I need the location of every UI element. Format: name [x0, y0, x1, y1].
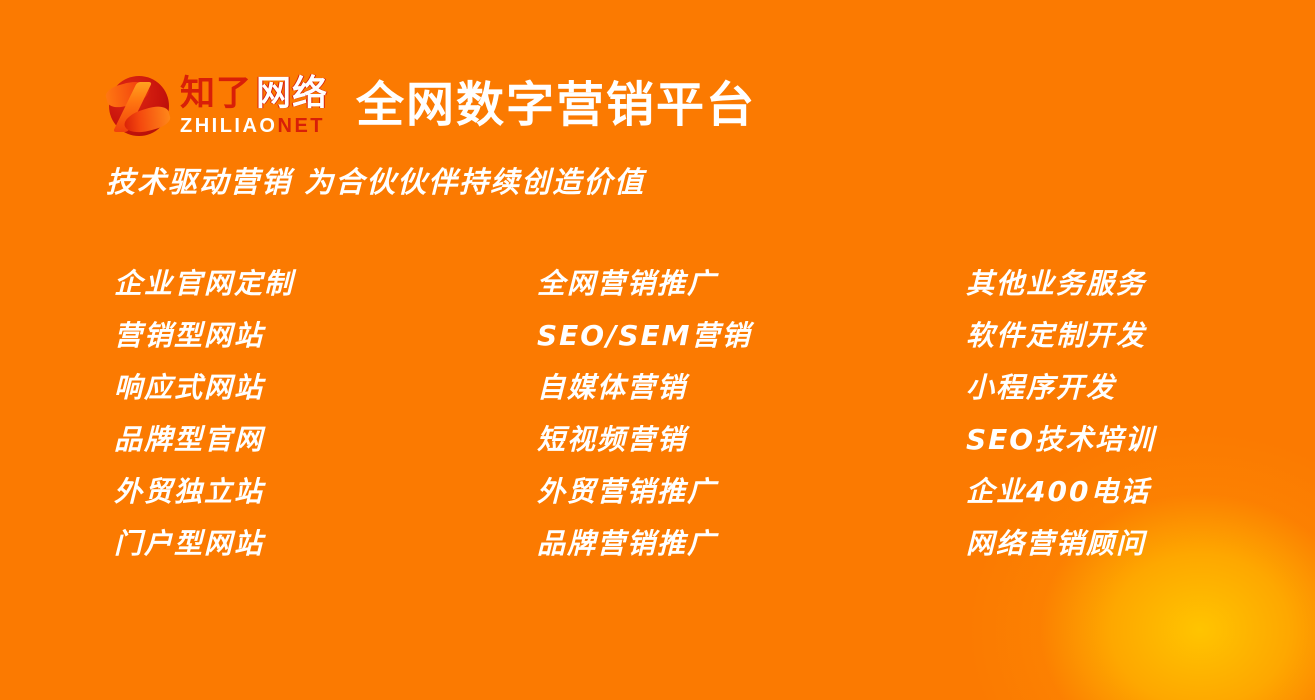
list-item: 全网营销推广	[537, 258, 751, 310]
list-item: 品牌营销推广	[537, 518, 751, 570]
list-item: 外贸独立站	[114, 466, 294, 518]
list-item: 其他业务服务	[966, 258, 1155, 310]
poster-header: 知了 网络 ZHILIAONET 全网数字营销平台	[104, 70, 756, 142]
logo-english-name: ZHILIAONET	[180, 116, 328, 136]
logo-english-white-text: ZHILIAO	[180, 115, 278, 137]
service-column-marketing-services: 全网营销推广 SEO/SEM营销 自媒体营销 短视频营销 外贸营销推广 品牌营销…	[537, 258, 751, 570]
list-item: 短视频营销	[537, 414, 751, 466]
zhiliao-z-emblem-icon	[104, 73, 174, 139]
list-item: 响应式网站	[114, 362, 294, 414]
logo-chinese-red-text: 知了	[180, 76, 252, 111]
brand-logo: 知了 网络 ZHILIAONET	[104, 70, 328, 142]
list-item: 自媒体营销	[537, 362, 751, 414]
list-item: 外贸营销推广	[537, 466, 751, 518]
list-item: 软件定制开发	[966, 310, 1155, 362]
logo-english-red-text: NET	[278, 115, 326, 137]
service-column-other-services: 其他业务服务 软件定制开发 小程序开发 SEO技术培训 企业400电话 网络营销…	[966, 258, 1155, 570]
page-title: 全网数字营销平台	[356, 82, 756, 130]
list-item: SEO/SEM营销	[537, 310, 751, 362]
list-item: 企业400电话	[966, 466, 1155, 518]
list-item: 网络营销顾问	[966, 518, 1155, 570]
list-item: 营销型网站	[114, 310, 294, 362]
list-item: 品牌型官网	[114, 414, 294, 466]
service-column-website-services: 企业官网定制 营销型网站 响应式网站 品牌型官网 外贸独立站 门户型网站	[114, 258, 294, 570]
page-subtitle: 技术驱动营销 为合伙伙伴持续创造价值	[106, 159, 645, 201]
list-item: 企业官网定制	[114, 258, 294, 310]
promo-poster: 知了 网络 ZHILIAONET 全网数字营销平台 技术驱动营销 为合伙伙伴持续…	[0, 0, 1315, 700]
logo-chinese-white-text: 网络	[256, 76, 328, 111]
list-item: 门户型网站	[114, 518, 294, 570]
logo-chinese-name: 知了 网络	[180, 76, 328, 111]
logo-wordmark: 知了 网络 ZHILIAONET	[180, 73, 328, 139]
service-columns: 企业官网定制 营销型网站 响应式网站 品牌型官网 外贸独立站 门户型网站 全网营…	[0, 258, 1315, 578]
list-item: 小程序开发	[966, 362, 1155, 414]
list-item: SEO技术培训	[966, 414, 1155, 466]
